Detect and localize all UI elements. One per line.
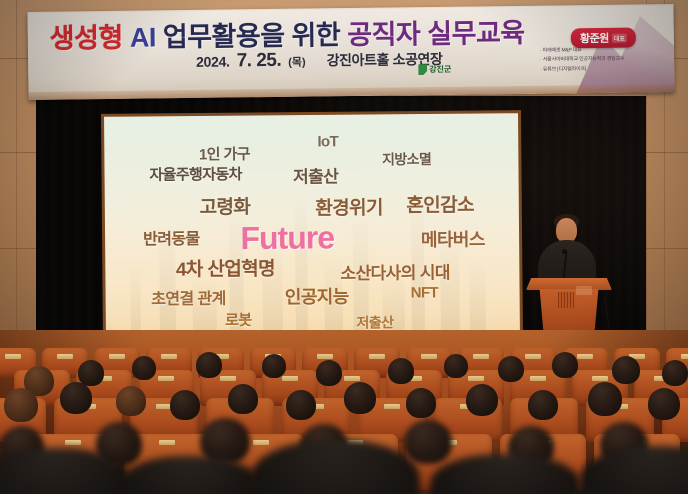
wordcloud-term: 1인 가구 — [199, 143, 250, 164]
speaker-bio: · 미래에셋 M&P 대표 · 서울사이버대학교 인공지능학과 겸임교수 · 유… — [540, 45, 644, 74]
wordcloud-term: 4차 산업혁명 — [176, 254, 275, 282]
seat-number-tag — [468, 376, 484, 381]
seat-number-tag — [592, 376, 608, 381]
slide-wordcloud: 1인 가구IoT지방소멸자율주행자동차저출산고령화환경위기혼인감소반려동물메타버… — [104, 113, 518, 117]
banner-title-part-4: 공직자 실무교육 — [347, 18, 525, 50]
seat-number-tag — [159, 440, 175, 445]
seat-number-tag — [158, 376, 174, 381]
seat-number-tag — [421, 354, 437, 359]
wordcloud-term: 지방소멸 — [382, 149, 431, 169]
podium-top — [526, 278, 612, 290]
banner-year: 2024. — [196, 53, 230, 69]
banner-title-part-1: 생성형 — [50, 23, 123, 54]
audience-head — [116, 386, 146, 416]
seat-number-tag — [369, 354, 385, 359]
wordcloud-term: 혼인감소 — [406, 190, 474, 218]
wordcloud-term: 초연결 관계 — [151, 285, 226, 310]
audience-head — [466, 384, 498, 416]
wordcloud-term: 자율주행자동차 — [149, 163, 242, 185]
audience-head — [170, 390, 200, 420]
seat-number-tag — [344, 376, 360, 381]
banner-subtitle: 2024. 7. 25. (목) 강진아트홀 소공연장 — [196, 48, 443, 73]
seat-number-tag — [473, 354, 489, 359]
audience-head — [404, 420, 452, 464]
wordcloud-term: 환경위기 — [315, 193, 383, 221]
skyline-bar — [295, 182, 308, 339]
audience-head — [406, 388, 436, 418]
seat-number-tag — [220, 376, 236, 381]
audience-head — [228, 384, 258, 414]
wordcloud-term: 소산다사의 시대 — [340, 258, 450, 284]
audience-head — [4, 388, 38, 422]
seat-number-tag — [161, 354, 177, 359]
audience-head — [316, 360, 342, 386]
podium-glass — [576, 286, 592, 295]
audience-head — [388, 358, 414, 384]
audience-head — [648, 388, 680, 420]
audience-head — [262, 354, 286, 378]
podium-panel — [558, 292, 574, 308]
seat-number-tag — [317, 354, 333, 359]
banner-title-part-3: 업무활용을 위한 — [163, 20, 341, 52]
wordcloud-title-future: Future — [240, 219, 334, 257]
seat-number-tag — [253, 440, 269, 445]
audience-head — [498, 356, 524, 382]
audience-head — [78, 360, 104, 386]
bio-line: · 유튜브 [디지털라이프] — [540, 64, 644, 75]
microphone-icon — [562, 249, 567, 254]
wordcloud-term: 메타버스 — [421, 226, 485, 253]
seat-number-tag — [577, 354, 593, 359]
event-banner: 생성형 AI 업무활용을 위한 공직자 실무교육 2024. 7. 25. (목… — [27, 4, 674, 100]
audience-head — [344, 382, 376, 414]
leaf-icon — [418, 64, 427, 75]
wordcloud-term: 로봇 — [225, 309, 252, 330]
audience-area — [0, 330, 688, 494]
seat-number-tag — [530, 376, 546, 381]
wordcloud-term: IoT — [317, 133, 338, 150]
audience-head — [662, 360, 688, 386]
banner-day: (목) — [288, 54, 306, 70]
audience-head — [132, 356, 156, 380]
gangjin-logo: 강진군 — [418, 64, 451, 75]
wordcloud-term: 반려동물 — [143, 225, 200, 249]
wordcloud-term: NFT — [411, 285, 439, 302]
audience-head — [60, 382, 92, 414]
seat-number-tag — [109, 354, 125, 359]
audience-head — [196, 352, 222, 378]
seat-number-tag — [384, 404, 400, 409]
speaker-name: 황준원 — [580, 30, 609, 46]
speaker-role: 대표 — [612, 33, 627, 42]
seat-number-tag — [282, 376, 298, 381]
audience-head — [444, 354, 468, 378]
logo-label: 강진군 — [429, 65, 451, 73]
projection-screen-frame: 1인 가구IoT지방소멸자율주행자동차저출산고령화환경위기혼인감소반려동물메타버… — [101, 110, 523, 344]
banner-title-part-2: AI — [130, 22, 156, 52]
seat-number-tag — [5, 354, 21, 359]
skyline-bar — [470, 261, 487, 337]
audience-head — [588, 382, 622, 416]
banner-date: 7. 25. — [237, 50, 282, 73]
audience-head — [528, 390, 558, 420]
wordcloud-term: 인공지능 — [285, 283, 349, 310]
wordcloud-term: 저출산 — [293, 163, 338, 188]
audience-head — [286, 390, 316, 420]
seat-number-tag — [65, 440, 81, 445]
audience-head — [552, 352, 578, 378]
wordcloud-term: 고령화 — [199, 192, 250, 219]
seat-number-tag — [57, 354, 73, 359]
projection-screen: 1인 가구IoT지방소멸자율주행자동차저출산고령화환경위기혼인감소반려동물메타버… — [104, 113, 520, 341]
seat-number-tag — [525, 354, 541, 359]
conference-photo: 생성형 AI 업무활용을 위한 공직자 실무교육 2024. 7. 25. (목… — [0, 0, 688, 494]
seat-number-tag — [681, 354, 688, 359]
audience-head — [612, 356, 640, 384]
